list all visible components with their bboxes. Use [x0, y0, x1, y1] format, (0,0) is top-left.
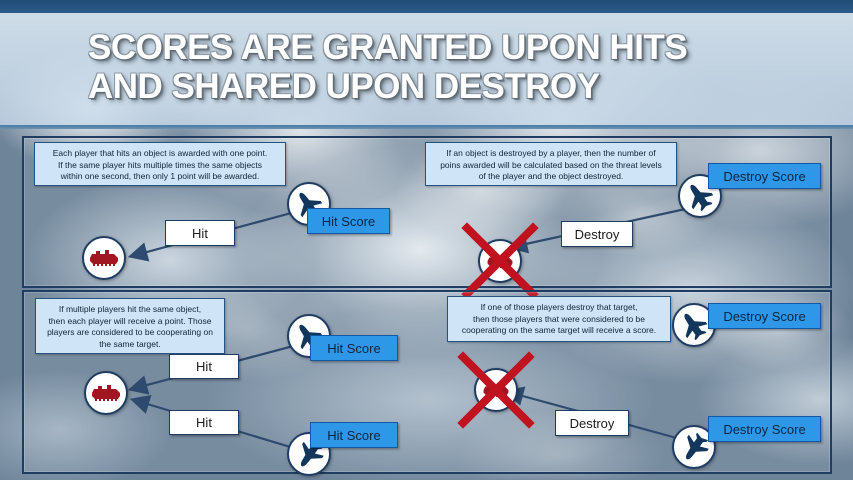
ship-icon	[482, 382, 510, 398]
destroyed-target-top	[461, 222, 539, 300]
label-hit-score-bottom-a: Hit Score	[310, 335, 398, 361]
ship-icon-node-top	[82, 236, 126, 280]
label-hit-score-bottom-b: Hit Score	[310, 422, 398, 448]
haze-band-edge	[0, 125, 853, 129]
page-title: SCORES ARE GRANTED UPON HITS AND SHARED …	[88, 28, 808, 106]
destroyed-ship-icon-node	[474, 368, 518, 412]
note-destroy-rule: If an object is destroyed by a player, t…	[425, 142, 677, 186]
sky-top-strip	[0, 0, 853, 13]
note-hit-rule: Each player that hits an object is award…	[34, 142, 286, 186]
jet-icon	[679, 432, 709, 462]
note-multi-hit: If multiple players hit the same object,…	[35, 298, 225, 354]
destroyed-target-bottom	[457, 351, 535, 429]
jet-icon	[679, 310, 709, 340]
slide-canvas: SCORES ARE GRANTED UPON HITS AND SHARED …	[0, 0, 853, 480]
ship-icon	[89, 249, 119, 267]
label-destroy-bottom: Destroy	[555, 410, 629, 436]
label-hit-top: Hit	[165, 220, 235, 246]
label-destroy-score-bottom-a: Destroy Score	[708, 303, 821, 329]
label-hit-score-top: Hit Score	[307, 208, 390, 234]
label-destroy-top: Destroy	[561, 221, 633, 247]
note-multi-destroy: If one of those players destroy that tar…	[447, 296, 671, 342]
label-destroy-score-top: Destroy Score	[708, 163, 821, 189]
ship-icon	[91, 384, 121, 402]
ship-icon-node-bottom	[84, 371, 128, 415]
label-hit-bottom-a: Hit	[169, 354, 239, 379]
label-hit-bottom-b: Hit	[169, 410, 239, 435]
ship-icon	[486, 253, 514, 269]
destroyed-ship-icon-node	[478, 239, 522, 283]
label-destroy-score-bottom-b: Destroy Score	[708, 416, 821, 442]
